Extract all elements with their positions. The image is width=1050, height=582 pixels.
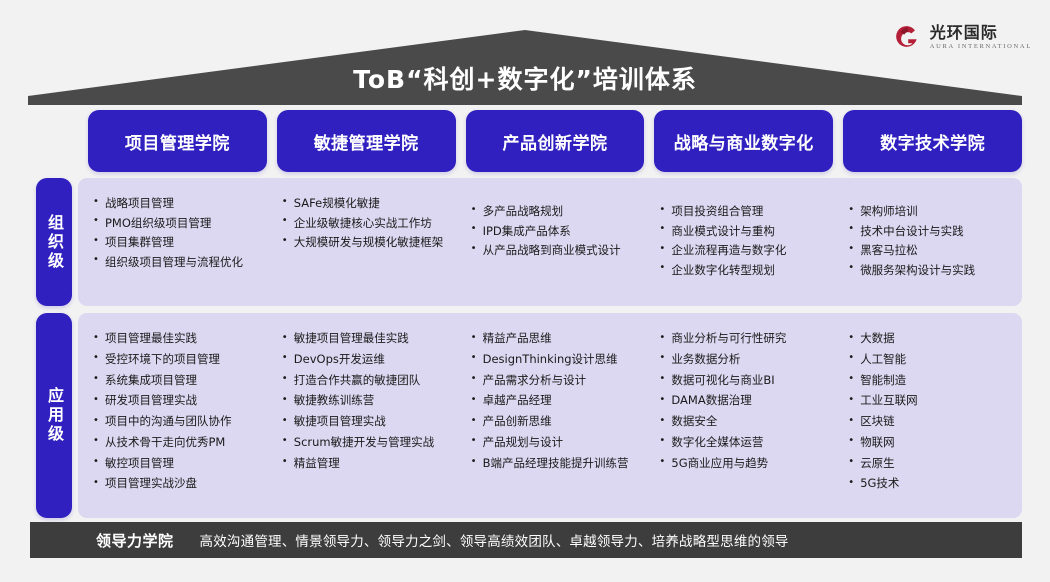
academy-card-project-management[interactable]: 项目管理学院 xyxy=(88,110,267,172)
matrix-cell-app-digital-technology: 大数据 人工智能 智能制造 工业互联网 区块链 物联网 云原生 5G技术 xyxy=(833,323,1022,510)
academy-card-strategy-digital[interactable]: 战略与商业数字化 xyxy=(654,110,833,172)
list-item: DAMA数据治理 xyxy=(658,391,827,411)
list-item: 系统集成项目管理 xyxy=(92,371,261,391)
list-item: 工业互联网 xyxy=(847,391,1016,411)
course-list: 商业分析与可行性研究 业务数据分析 数据可视化与商业BI DAMA数据治理 数据… xyxy=(658,329,827,473)
list-item: 智能制造 xyxy=(847,371,1016,391)
list-item: B端产品经理技能提升训练营 xyxy=(470,454,639,474)
course-list: 战略项目管理 PMO组织级项目管理 项目集群管理 组织级项目管理与流程优化 xyxy=(92,194,261,272)
list-item: 物联网 xyxy=(847,433,1016,453)
leadership-footer-bar: 领导力学院 高效沟通管理、情景领导力、领导力之剑、领导高绩效团队、卓越领导力、培… xyxy=(30,522,1022,558)
list-item: 产品创新思维 xyxy=(470,412,639,432)
list-item: 产品需求分析与设计 xyxy=(470,371,639,391)
list-item: IPD集成产品体系 xyxy=(470,222,639,241)
matrix-cell-org-project-management: 战略项目管理 PMO组织级项目管理 项目集群管理 组织级项目管理与流程优化 xyxy=(78,188,267,298)
list-item: 项目中的沟通与团队协作 xyxy=(92,412,261,432)
course-list: 敏捷项目管理最佳实践 DevOps开发运维 打造合作共赢的敏捷团队 敏捷教练训练… xyxy=(281,329,450,473)
list-item: 项目集群管理 xyxy=(92,233,261,252)
list-item: 大数据 xyxy=(847,329,1016,349)
level-tab-organization-label: 组织级 xyxy=(44,214,64,271)
list-item: 区块链 xyxy=(847,412,1016,432)
matrix-cell-app-project-management: 项目管理最佳实践 受控环境下的项目管理 系统集成项目管理 研发项目管理实战 项目… xyxy=(78,323,267,510)
course-list: 多产品战略规划 IPD集成产品体系 从产品战略到商业模式设计 xyxy=(470,202,639,260)
academy-card-agile-management[interactable]: 敏捷管理学院 xyxy=(277,110,456,172)
list-item: 5G商业应用与趋势 xyxy=(658,454,827,474)
matrix-cell-org-agile-management: SAFe规模化敏捷 企业级敏捷核心实战工作坊 大规模研发与规模化敏捷框架 xyxy=(267,188,456,298)
course-list: SAFe规模化敏捷 企业级敏捷核心实战工作坊 大规模研发与规模化敏捷框架 xyxy=(281,194,450,252)
list-item: 企业级敏捷核心实战工作坊 xyxy=(281,214,450,233)
list-item: 产品规划与设计 xyxy=(470,433,639,453)
list-item: 项目投资组合管理 xyxy=(658,202,827,221)
matrix-cell-app-agile-management: 敏捷项目管理最佳实践 DevOps开发运维 打造合作共赢的敏捷团队 敏捷教练训练… xyxy=(267,323,456,510)
list-item: 数据可视化与商业BI xyxy=(658,371,827,391)
course-list: 项目管理最佳实践 受控环境下的项目管理 系统集成项目管理 研发项目管理实战 项目… xyxy=(92,329,261,494)
list-item: 受控环境下的项目管理 xyxy=(92,350,261,370)
list-item: 云原生 xyxy=(847,454,1016,474)
list-item: 5G技术 xyxy=(847,474,1016,494)
list-item: 敏控项目管理 xyxy=(92,454,261,474)
list-item: 精益产品思维 xyxy=(470,329,639,349)
list-item: 商业分析与可行性研究 xyxy=(658,329,827,349)
matrix-row-organization: 战略项目管理 PMO组织级项目管理 项目集群管理 组织级项目管理与流程优化 SA… xyxy=(78,178,1022,306)
list-item: 大规模研发与规模化敏捷框架 xyxy=(281,233,450,252)
list-item: 黑客马拉松 xyxy=(847,241,1016,260)
level-tab-organization[interactable]: 组织级 xyxy=(36,178,72,306)
list-item: 多产品战略规划 xyxy=(470,202,639,221)
list-item: 卓越产品经理 xyxy=(470,391,639,411)
list-item: 项目管理最佳实践 xyxy=(92,329,261,349)
matrix-cell-app-product-innovation: 精益产品思维 DesignThinking设计思维 产品需求分析与设计 卓越产品… xyxy=(456,323,645,510)
list-item: 数据安全 xyxy=(658,412,827,432)
list-item: 敏捷项目管理最佳实践 xyxy=(281,329,450,349)
course-list: 项目投资组合管理 商业模式设计与重构 企业流程再造与数字化 企业数字化转型规划 xyxy=(658,202,827,280)
academy-card-digital-technology[interactable]: 数字技术学院 xyxy=(843,110,1022,172)
matrix-row-application: 项目管理最佳实践 受控环境下的项目管理 系统集成项目管理 研发项目管理实战 项目… xyxy=(78,313,1022,518)
matrix-cell-org-digital-technology: 架构师培训 技术中台设计与实践 黑客马拉松 微服务架构设计与实践 xyxy=(833,188,1022,298)
list-item: 从产品战略到商业模式设计 xyxy=(470,241,639,260)
list-item: Scrum敏捷开发与管理实战 xyxy=(281,433,450,453)
list-item: 商业模式设计与重构 xyxy=(658,222,827,241)
matrix-cell-org-product-innovation: 多产品战略规划 IPD集成产品体系 从产品战略到商业模式设计 xyxy=(456,188,645,298)
list-item: 业务数据分析 xyxy=(658,350,827,370)
list-item: DevOps开发运维 xyxy=(281,350,450,370)
list-item: 架构师培训 xyxy=(847,202,1016,221)
course-list: 架构师培训 技术中台设计与实践 黑客马拉松 微服务架构设计与实践 xyxy=(847,202,1016,280)
list-item: 敏捷教练训练营 xyxy=(281,391,450,411)
list-item: 人工智能 xyxy=(847,350,1016,370)
footer-course-list: 高效沟通管理、情景领导力、领导力之剑、领导高绩效团队、卓越领导力、培养战略型思维… xyxy=(200,530,789,550)
course-list: 精益产品思维 DesignThinking设计思维 产品需求分析与设计 卓越产品… xyxy=(470,329,639,473)
matrix-cell-app-strategy-digital: 商业分析与可行性研究 业务数据分析 数据可视化与商业BI DAMA数据治理 数据… xyxy=(644,323,833,510)
academy-header-row: 项目管理学院 敏捷管理学院 产品创新学院 战略与商业数字化 数字技术学院 xyxy=(88,110,1022,172)
list-item: 研发项目管理实战 xyxy=(92,391,261,411)
list-item: 企业流程再造与数字化 xyxy=(658,241,827,260)
level-tab-application[interactable]: 应用级 xyxy=(36,313,72,518)
list-item: 企业数字化转型规划 xyxy=(658,261,827,280)
list-item: 精益管理 xyxy=(281,454,450,474)
academy-card-product-innovation[interactable]: 产品创新学院 xyxy=(466,110,645,172)
list-item: 数字化全媒体运营 xyxy=(658,433,827,453)
list-item: PMO组织级项目管理 xyxy=(92,214,261,233)
list-item: 战略项目管理 xyxy=(92,194,261,213)
matrix-cell-org-strategy-digital: 项目投资组合管理 商业模式设计与重构 企业流程再造与数字化 企业数字化转型规划 xyxy=(644,188,833,298)
course-list: 大数据 人工智能 智能制造 工业互联网 区块链 物联网 云原生 5G技术 xyxy=(847,329,1016,494)
level-tab-application-label: 应用级 xyxy=(44,387,64,444)
footer-academy-title: 领导力学院 xyxy=(96,530,174,551)
list-item: 组织级项目管理与流程优化 xyxy=(92,253,261,272)
slide-canvas: 光环国际 AURA INTERNATIONAL ToB“科创+数字化”培训体系 … xyxy=(0,0,1050,582)
list-item: 从技术骨干走向优秀PM xyxy=(92,433,261,453)
list-item: 微服务架构设计与实践 xyxy=(847,261,1016,280)
list-item: 项目管理实战沙盘 xyxy=(92,474,261,494)
list-item: 打造合作共赢的敏捷团队 xyxy=(281,371,450,391)
page-title: ToB“科创+数字化”培训体系 xyxy=(28,60,1022,96)
list-item: 技术中台设计与实践 xyxy=(847,222,1016,241)
list-item: DesignThinking设计思维 xyxy=(470,350,639,370)
list-item: 敏捷项目管理实战 xyxy=(281,412,450,432)
roof-banner: ToB“科创+数字化”培训体系 xyxy=(28,30,1022,105)
list-item: SAFe规模化敏捷 xyxy=(281,194,450,213)
